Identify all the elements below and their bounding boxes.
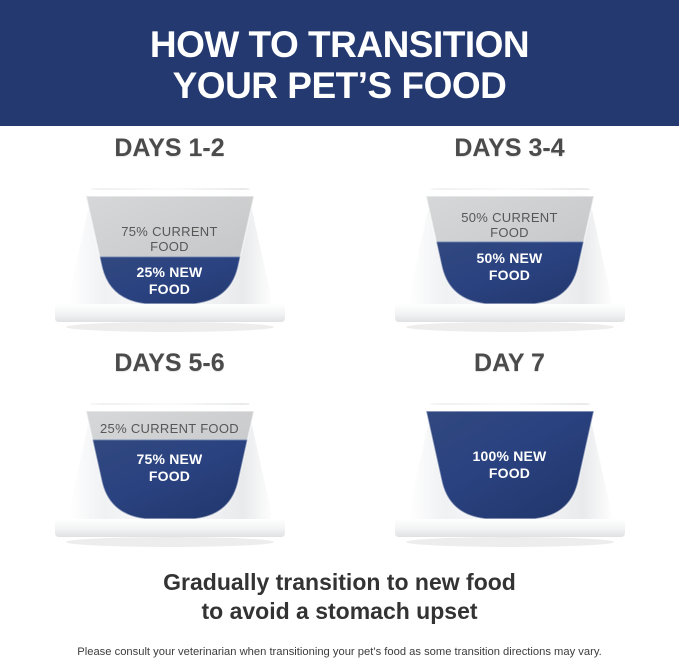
footer-headline-line1: Gradually transition to new food <box>0 568 679 597</box>
bowl-illustration-3 <box>45 391 295 551</box>
bowl-illustration-1 <box>45 176 295 336</box>
bowl-base-2 <box>395 304 625 322</box>
bowl-day-7: 100% NEW FOOD <box>385 391 635 551</box>
step-title-day-7: DAY 7 <box>340 349 679 378</box>
bowl-illustration-4 <box>385 391 635 551</box>
infographic-page: HOW TO TRANSITION YOUR PET’S FOOD DAYS 1… <box>0 0 679 661</box>
header-title-line2: YOUR PET’S FOOD <box>173 65 507 106</box>
step-card-days-5-6: DAYS 5-6 <box>0 349 339 564</box>
step-title-days-1-2: DAYS 1-2 <box>0 134 339 163</box>
bowl-base-3 <box>55 519 285 537</box>
step-card-days-1-2: DAYS 1-2 <box>0 134 339 349</box>
footer-headline-line2: to avoid a stomach upset <box>0 597 679 626</box>
step-card-days-3-4: DAYS 3-4 <box>340 134 679 349</box>
step-title-days-5-6: DAYS 5-6 <box>0 349 339 378</box>
bowl-days-3-4: 50% CURRENT FOOD 50% NEW FOOD <box>385 176 635 336</box>
bowl-days-5-6: 25% CURRENT FOOD 75% NEW FOOD <box>45 391 295 551</box>
transition-steps-grid: DAYS 1-2 <box>0 126 679 566</box>
footer-disclaimer: Please consult your veterinarian when tr… <box>0 645 679 660</box>
footer-section: Gradually transition to new food to avoi… <box>0 568 679 659</box>
bowl-days-1-2: 75% CURRENT FOOD 25% NEW FOOD <box>45 176 295 336</box>
header-title-line1: HOW TO TRANSITION <box>150 24 529 65</box>
header-banner: HOW TO TRANSITION YOUR PET’S FOOD <box>0 0 679 126</box>
step-card-day-7: DAY 7 <box>340 349 679 564</box>
step-title-days-3-4: DAYS 3-4 <box>340 134 679 163</box>
bowl-base-1 <box>55 304 285 322</box>
bowl-illustration-2 <box>385 176 635 336</box>
bowl-base-4 <box>395 519 625 537</box>
